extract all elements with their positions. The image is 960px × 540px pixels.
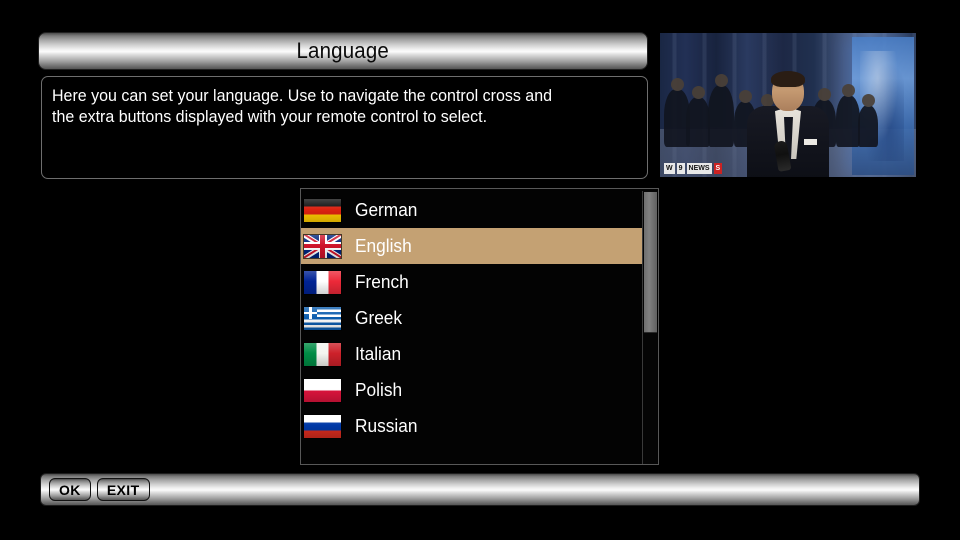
- language-list-item-english[interactable]: English: [301, 228, 643, 264]
- language-label: Russian: [355, 416, 417, 437]
- language-list-item-greek[interactable]: Greek: [301, 300, 643, 336]
- list-scrollbar-thumb[interactable]: [644, 192, 657, 333]
- video-crowd-figure: [686, 97, 710, 147]
- language-list-item-italian[interactable]: Italian: [301, 336, 643, 372]
- video-crowd-figure: [858, 105, 878, 147]
- logo-cell: W: [664, 163, 675, 174]
- greece-flag-icon: [304, 307, 341, 330]
- list-scrollbar-track[interactable]: [642, 191, 657, 464]
- language-label: German: [355, 200, 417, 221]
- exit-button[interactable]: EXIT: [97, 478, 150, 501]
- russia-flag-icon: [304, 415, 341, 438]
- language-list: German English French Greek: [301, 192, 643, 444]
- footer-button-bar: OK EXIT: [40, 473, 920, 506]
- ok-button-label: OK: [59, 482, 81, 498]
- united-kingdom-flag-icon: [304, 235, 341, 258]
- logo-cell: S: [714, 163, 723, 174]
- germany-flag-icon: [304, 199, 341, 222]
- language-list-item-french[interactable]: French: [301, 264, 643, 300]
- ok-button[interactable]: OK: [49, 478, 91, 501]
- video-lit-sculpture: [852, 37, 914, 175]
- logo-cell: 9: [677, 163, 685, 174]
- page-title: Language: [297, 38, 390, 64]
- language-label: English: [355, 236, 412, 257]
- broadcast-channel-logo: W 9 NEWS S: [664, 163, 722, 174]
- presenter-pocket-square: [804, 139, 817, 145]
- help-description-text: Here you can set your language. Use to n…: [52, 86, 618, 128]
- language-list-panel[interactable]: German English French Greek: [300, 188, 659, 465]
- tv-settings-screen: Language Here you can set your language.…: [0, 0, 960, 540]
- poland-flag-icon: [304, 379, 341, 402]
- france-flag-icon: [304, 271, 341, 294]
- help-description-box: Here you can set your language. Use to n…: [41, 76, 648, 179]
- language-label: Polish: [355, 380, 402, 401]
- logo-cell: NEWS: [687, 163, 712, 174]
- page-title-bar: Language: [38, 32, 648, 70]
- language-label: French: [355, 272, 409, 293]
- italy-flag-icon: [304, 343, 341, 366]
- language-list-item-russian[interactable]: Russian: [301, 408, 643, 444]
- presenter-hair: [771, 71, 805, 87]
- exit-button-label: EXIT: [107, 482, 140, 498]
- video-crowd-figure: [836, 95, 860, 147]
- language-label: Italian: [355, 344, 401, 365]
- language-list-item-polish[interactable]: Polish: [301, 372, 643, 408]
- language-label: Greek: [355, 308, 402, 329]
- video-crowd-figure: [708, 85, 734, 147]
- video-preview[interactable]: W 9 NEWS S: [659, 32, 917, 178]
- language-list-item-german[interactable]: German: [301, 192, 643, 228]
- video-presenter: [746, 73, 830, 177]
